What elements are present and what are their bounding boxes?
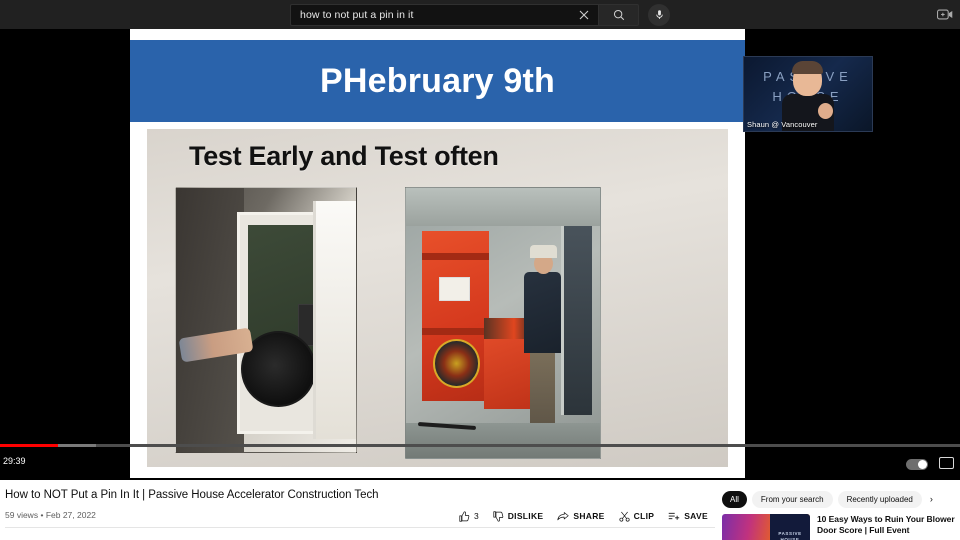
elapsed-time: 29:39 <box>3 456 26 466</box>
meta-separator: • <box>40 510 43 520</box>
save-label: SAVE <box>684 511 708 521</box>
slide-photo-blower-door-room <box>405 187 601 459</box>
progress-bar[interactable] <box>0 444 960 447</box>
progress-played <box>0 444 58 447</box>
create-video-icon[interactable] <box>934 4 955 25</box>
scissors-icon <box>619 511 630 522</box>
slide-photo-blower-door-window <box>175 187 357 453</box>
chevron-right-icon[interactable]: › <box>927 494 933 504</box>
player-controls: 29:39 <box>0 444 960 480</box>
slide-body: Test Early and Test often <box>147 129 728 467</box>
thumbs-down-icon <box>493 511 504 522</box>
voice-search-button[interactable] <box>648 4 670 26</box>
autoplay-knob <box>918 460 927 469</box>
filter-chip-bar: All From your search Recently uploaded › <box>722 490 960 508</box>
search-input-value: how to not put a pin in it <box>300 4 574 26</box>
clip-button[interactable]: CLIP <box>612 506 662 526</box>
youtube-watch-page: how to not put a pin in it <box>0 0 960 540</box>
search-button[interactable] <box>598 4 639 26</box>
share-label: SHARE <box>573 511 604 521</box>
top-search-bar: how to not put a pin in it <box>0 0 960 29</box>
suggestion-title[interactable]: 10 Easy Ways to Ruin Your Blower Door Sc… <box>817 514 960 540</box>
video-player[interactable]: PHebruary 9th Test Early and Test often <box>0 29 960 480</box>
list-item[interactable]: PASSIVE HOUSE 10 Easy Ways to Ruin Your … <box>722 514 960 540</box>
pip-speaker-name: Shaun @ Vancouver <box>747 120 817 129</box>
slide-banner-title: PHebruary 9th <box>320 62 555 101</box>
save-button[interactable]: SAVE <box>661 506 715 526</box>
suggestion-thumbnail[interactable]: PASSIVE HOUSE <box>722 514 810 540</box>
thumbnail-badge-line1: PASSIVE <box>778 531 801 536</box>
save-list-icon <box>668 511 680 522</box>
filter-chip-all[interactable]: All <box>722 491 747 508</box>
slide-heading: Test Early and Test often <box>189 141 499 172</box>
search-input[interactable]: how to not put a pin in it <box>290 4 598 26</box>
upload-date: Feb 27, 2022 <box>46 510 96 520</box>
filter-chip-from-your-search[interactable]: From your search <box>752 491 833 508</box>
share-button[interactable]: SHARE <box>550 506 611 526</box>
autoplay-toggle[interactable] <box>906 459 928 470</box>
suggestions-sidebar: All From your search Recently uploaded ›… <box>722 490 960 540</box>
thumbnail-badge-line2: HOUSE <box>780 537 799 540</box>
video-meta: 59 views • Feb 27, 2022 <box>5 510 96 520</box>
share-arrow-icon <box>557 511 569 522</box>
search-wrapper: how to not put a pin in it <box>290 4 670 26</box>
filter-chip-recently-uploaded[interactable]: Recently uploaded <box>838 491 922 508</box>
dislike-button[interactable]: DISLIKE <box>486 506 551 526</box>
close-icon[interactable] <box>574 5 594 25</box>
picture-in-picture-speaker[interactable]: PASSIVE HOUSE Shaun @ Vancouver <box>743 56 873 132</box>
microphone-icon <box>654 9 665 20</box>
dislike-label: DISLIKE <box>508 511 544 521</box>
slide-banner: PHebruary 9th <box>130 40 745 122</box>
video-action-bar: 3 DISLIKE SHARE CLIP <box>452 506 745 526</box>
section-divider <box>5 527 715 528</box>
subtitles-button[interactable] <box>939 457 954 469</box>
view-count: 59 views <box>5 510 38 520</box>
thumbnail-badge: PASSIVE HOUSE <box>770 514 810 540</box>
slide-top-margin <box>130 29 745 40</box>
search-icon <box>613 9 625 21</box>
like-count: 3 <box>474 511 479 521</box>
page-title: How to NOT Put a Pin In It | Passive Hou… <box>5 489 379 501</box>
video-frame-slide: PHebruary 9th Test Early and Test often <box>130 29 745 478</box>
clip-label: CLIP <box>634 511 655 521</box>
like-button[interactable]: 3 <box>452 506 486 526</box>
thumbs-up-icon <box>459 511 470 522</box>
